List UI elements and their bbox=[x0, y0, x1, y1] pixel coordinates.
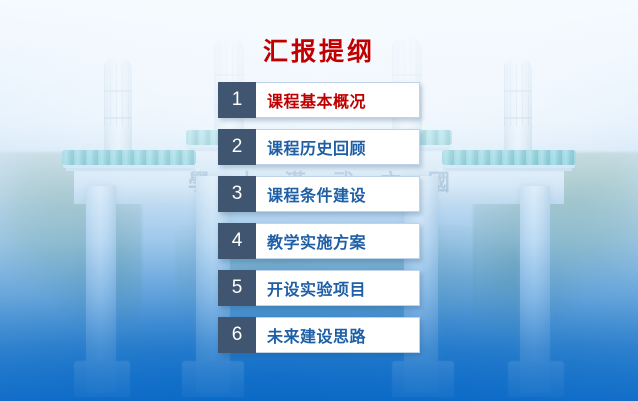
outline-item-2[interactable]: 2 课程历史回顾 bbox=[218, 129, 420, 165]
outline-item-number: 2 bbox=[218, 129, 256, 165]
page-title: 汇报提纲 bbox=[0, 32, 638, 68]
outline-item-6[interactable]: 6 未来建设思路 bbox=[218, 317, 420, 353]
outline-item-label: 未来建设思路 bbox=[256, 317, 420, 353]
outline-item-label: 课程条件建设 bbox=[256, 176, 420, 212]
outline-item-1[interactable]: 1 课程基本概况 bbox=[218, 82, 420, 118]
outline-item-number: 5 bbox=[218, 270, 256, 306]
outline-item-label: 教学实施方案 bbox=[256, 223, 420, 259]
presentation-slide: 學 大 漢 武 立 國 汇报提纲 1 课程基本概况 bbox=[0, 0, 638, 401]
outline-item-label: 课程基本概况 bbox=[256, 82, 420, 118]
outline-item-3[interactable]: 3 课程条件建设 bbox=[218, 176, 420, 212]
outline-item-number: 6 bbox=[218, 317, 256, 353]
outline-item-4[interactable]: 4 教学实施方案 bbox=[218, 223, 420, 259]
outline-list: 1 课程基本概况 2 课程历史回顾 3 课程条件建设 4 教学实施方案 5 开设… bbox=[218, 82, 420, 364]
outline-item-label: 开设实验项目 bbox=[256, 270, 420, 306]
outline-item-number: 1 bbox=[218, 82, 256, 118]
slide-content: 汇报提纲 1 课程基本概况 2 课程历史回顾 3 课程条件建设 4 教学实施方案… bbox=[0, 0, 638, 401]
outline-item-number: 4 bbox=[218, 223, 256, 259]
outline-item-label: 课程历史回顾 bbox=[256, 129, 420, 165]
outline-item-5[interactable]: 5 开设实验项目 bbox=[218, 270, 420, 306]
outline-item-number: 3 bbox=[218, 176, 256, 212]
